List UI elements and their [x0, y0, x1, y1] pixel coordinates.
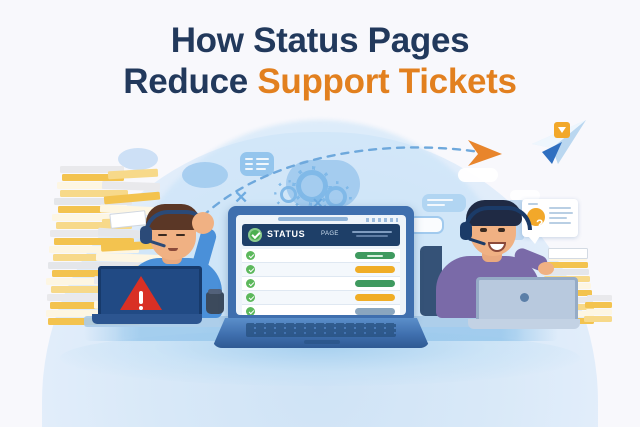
- agent-eye: [498, 228, 505, 232]
- agent-eye: [176, 234, 185, 236]
- status-pill-degraded: [355, 266, 395, 273]
- right-laptop-base: [468, 319, 580, 329]
- agent-hand: [538, 262, 554, 275]
- status-page-screen[interactable]: STATUS PAGE: [236, 215, 406, 315]
- center-laptop-lid: STATUS PAGE: [228, 206, 414, 324]
- agent-mouth: [168, 248, 178, 251]
- agent-eye: [480, 228, 487, 232]
- check-circle-icon: [246, 307, 255, 315]
- status-row[interactable]: [242, 305, 400, 315]
- status-row[interactable]: [242, 277, 400, 291]
- center-laptop: STATUS PAGE: [212, 206, 430, 348]
- left-laptop-base: [92, 314, 202, 324]
- status-pill-maintenance: [355, 308, 395, 315]
- illustration-banner: ✕ ✕: [0, 0, 640, 427]
- title-line-2-accent: Support Tickets: [257, 62, 516, 101]
- agent-eye: [158, 234, 167, 236]
- keyboard[interactable]: [246, 323, 396, 337]
- trackpad[interactable]: [304, 340, 340, 344]
- check-circle-icon: [246, 293, 255, 302]
- status-page-title-suffix: PAGE: [321, 231, 339, 237]
- status-row-list: [242, 249, 400, 315]
- left-laptop: [92, 266, 202, 324]
- agent-hand: [192, 212, 214, 234]
- title-line-2-plain: Reduce: [123, 62, 257, 101]
- check-circle-icon: [246, 265, 255, 274]
- paper-plane-icon: [528, 118, 590, 166]
- check-circle-icon: [246, 279, 255, 288]
- status-pill-degraded: [355, 294, 395, 301]
- laptop-logo: [520, 293, 529, 302]
- status-row[interactable]: [242, 249, 400, 263]
- check-circle-icon: [246, 251, 255, 260]
- status-row[interactable]: [242, 263, 400, 277]
- status-page-header: STATUS PAGE: [242, 224, 400, 246]
- status-page-title: STATUS: [267, 229, 305, 239]
- warning-exclamation: [139, 291, 143, 304]
- browser-controls[interactable]: [366, 218, 398, 222]
- right-laptop: [468, 277, 580, 329]
- page-title: How Status Pages Reduce Support Tickets: [0, 22, 640, 101]
- browser-url-bar[interactable]: [278, 217, 348, 221]
- title-line-1: How Status Pages: [0, 22, 640, 60]
- status-pill-operational: [355, 280, 395, 287]
- status-page-meta: [350, 231, 394, 239]
- center-laptop-base: [212, 318, 430, 348]
- green-check-circle-icon: [248, 228, 262, 242]
- status-row[interactable]: [242, 291, 400, 305]
- warning-dot: [139, 306, 143, 310]
- headset-icon: [464, 206, 532, 230]
- status-pill-operational: [355, 252, 395, 259]
